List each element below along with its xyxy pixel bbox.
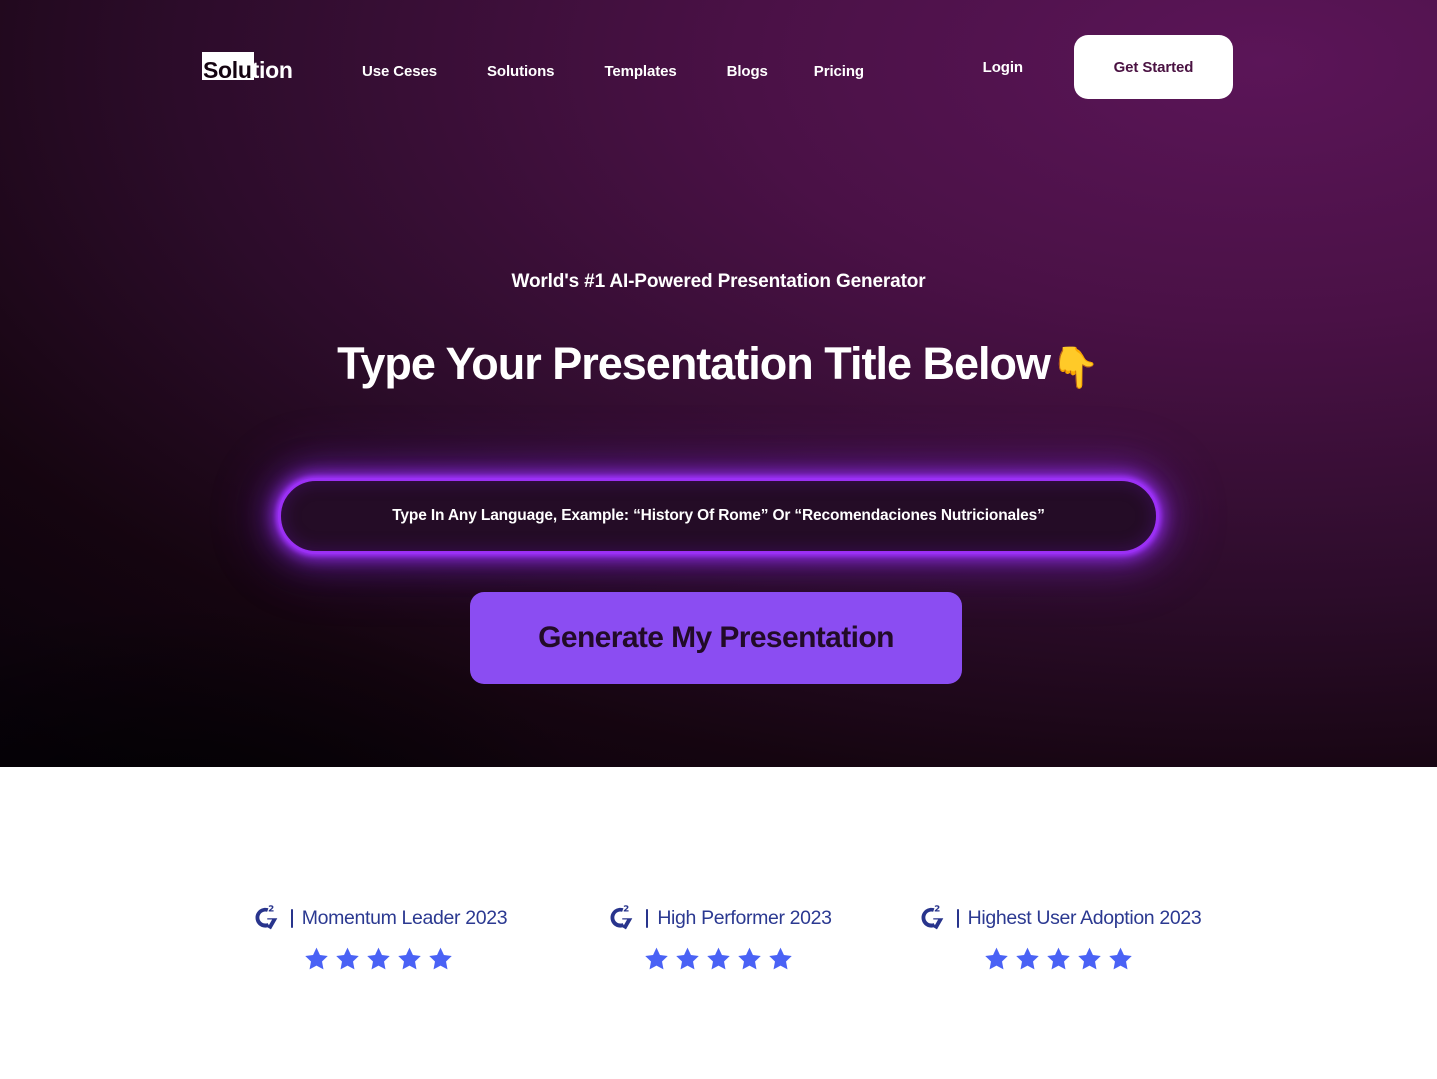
pointing-down-icon: 👇 [1050, 346, 1100, 390]
star-icon [675, 946, 700, 971]
star-rating [644, 946, 793, 971]
generate-presentation-button[interactable]: Generate My Presentation [470, 592, 962, 684]
badge-label: Highest User Adoption 2023 [968, 907, 1202, 930]
badge-divider [291, 909, 293, 928]
star-icon [1015, 946, 1040, 971]
g2-logo-icon [916, 903, 946, 933]
nav-actions: Login Get Started [983, 35, 1233, 99]
presentation-title-input-wrapper[interactable] [278, 478, 1159, 554]
top-navigation-bar: Solution Use Ceses Solutions Templates B… [0, 0, 1437, 134]
star-icon [335, 946, 360, 971]
badge-label: High Performer 2023 [657, 907, 831, 930]
g2-logo-icon [250, 903, 280, 933]
badge-row: Momentum Leader 2023 [0, 900, 1437, 971]
login-link[interactable]: Login [983, 59, 1023, 76]
badge-label: Momentum Leader 2023 [302, 907, 507, 930]
badge-divider [957, 909, 959, 928]
star-icon [644, 946, 669, 971]
star-icon [706, 946, 731, 971]
page-root: Solution Use Ceses Solutions Templates B… [0, 0, 1437, 1079]
star-icon [1046, 946, 1071, 971]
get-started-button[interactable]: Get Started [1074, 35, 1233, 99]
hero-section: Solution Use Ceses Solutions Templates B… [0, 0, 1437, 767]
star-icon [1077, 946, 1102, 971]
badge-header: High Performer 2023 [605, 900, 831, 936]
page-title: Type Your Presentation Title Below👇 [0, 335, 1437, 397]
hero-eyebrow: World's #1 AI-Powered Presentation Gener… [0, 271, 1437, 293]
badge-momentum-leader: Momentum Leader 2023 [209, 900, 549, 971]
star-icon [737, 946, 762, 971]
nav-item-solutions[interactable]: Solutions [487, 60, 554, 84]
nav-links: Use Ceses Solutions Templates Blogs Pric… [362, 60, 864, 84]
star-icon [366, 946, 391, 971]
nav-item-use-cases[interactable]: Use Ceses [362, 60, 437, 84]
g2-logo-icon [605, 903, 635, 933]
star-icon [984, 946, 1009, 971]
logo-text-rest: tion [252, 57, 293, 83]
brand-logo[interactable]: Solution [203, 54, 293, 86]
star-rating [304, 946, 453, 971]
badge-high-performer: High Performer 2023 [549, 900, 889, 971]
logo-text: Solution [203, 54, 293, 86]
star-icon [304, 946, 329, 971]
logo-text-selected: Solu [203, 57, 252, 83]
badge-header: Momentum Leader 2023 [250, 900, 507, 936]
nav-item-pricing[interactable]: Pricing [814, 60, 864, 84]
awards-section: Momentum Leader 2023 [0, 767, 1437, 1079]
badge-divider [646, 909, 648, 928]
star-rating [984, 946, 1133, 971]
nav-item-templates[interactable]: Templates [604, 60, 676, 84]
star-icon [428, 946, 453, 971]
nav-item-blogs[interactable]: Blogs [727, 60, 768, 84]
star-icon [1108, 946, 1133, 971]
star-icon [397, 946, 422, 971]
badge-highest-user-adoption: Highest User Adoption 2023 [889, 900, 1229, 971]
presentation-title-input[interactable] [299, 481, 1139, 551]
hero-title-text: Type Your Presentation Title Below [337, 338, 1050, 389]
star-icon [768, 946, 793, 971]
badge-header: Highest User Adoption 2023 [916, 900, 1202, 936]
